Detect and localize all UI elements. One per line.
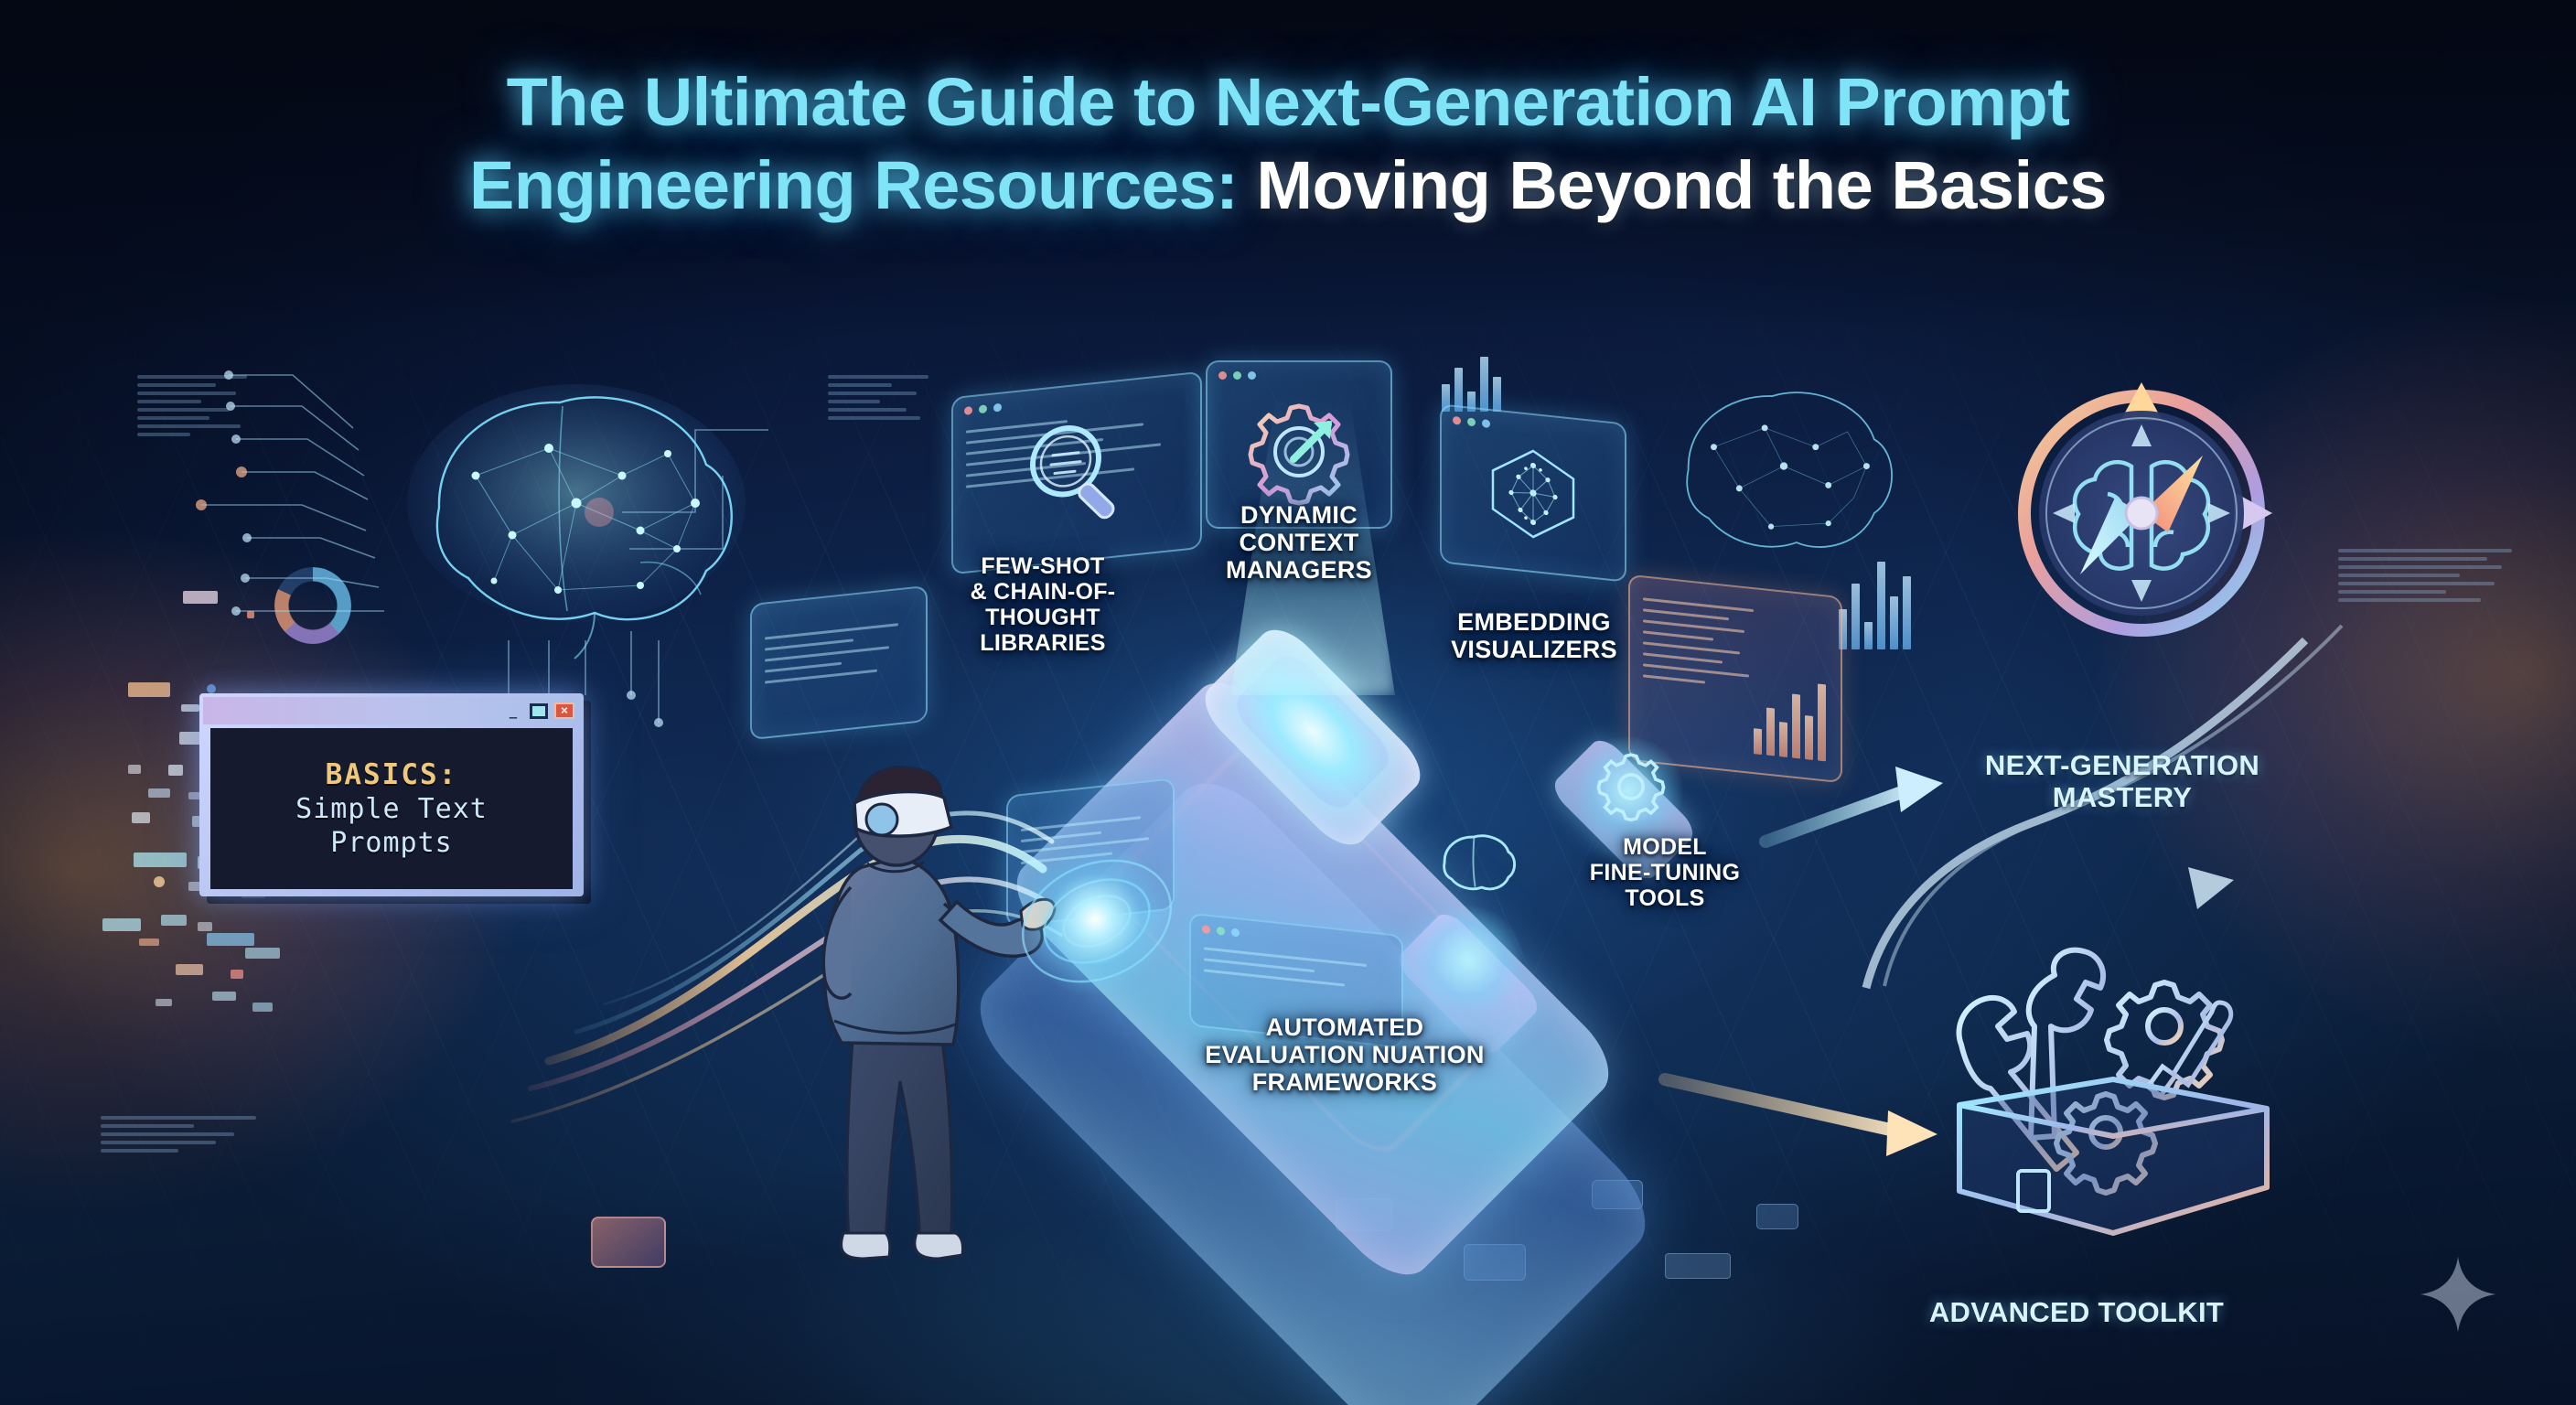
- bar-chart-decor-left: [1442, 348, 1501, 412]
- label-embedding-visualizers: EMBEDDING VISUALIZERS: [1420, 608, 1648, 663]
- floating-data-bits: [18, 585, 531, 1281]
- toolbox-icon: [1939, 942, 2287, 1244]
- label-next-generation-mastery: NEXT-GENERATION MASTERY: [1903, 750, 2342, 813]
- code-block-right: [2338, 549, 2512, 602]
- compass-brain-icon: [2000, 371, 2283, 655]
- donut-chart-decor: [274, 567, 351, 644]
- brain-network-icon-left: [366, 366, 787, 668]
- title-line-2-white: Moving Beyond the Basics: [1256, 147, 2107, 223]
- neural-node-icon: [1442, 405, 1625, 580]
- brain-network-icon-right: [1637, 366, 1930, 585]
- touch-interface-glow: [1017, 842, 1173, 997]
- chip-decor: [591, 1217, 666, 1268]
- card-content-lines: [765, 621, 913, 725]
- label-advanced-toolkit: ADVANCED TOOLKIT: [1866, 1297, 2287, 1329]
- poster-canvas: The Ultimate Guide to Next-Generation AI…: [0, 0, 2576, 1405]
- poster-title: The Ultimate Guide to Next-Generation AI…: [0, 68, 2576, 220]
- window-dots: [1202, 925, 1240, 937]
- sparkle-icon: [2419, 1255, 2497, 1334]
- title-line-1: The Ultimate Guide to Next-Generation AI…: [0, 68, 2576, 136]
- terminal-heading: BASICS:: [326, 758, 458, 791]
- card-bar-chart: [1754, 675, 1826, 761]
- terminal-line-3: Prompts: [330, 827, 452, 859]
- code-block-topleft-2: [828, 375, 928, 420]
- label-few-shot-libraries: FEW-SHOT & CHAIN-OF- THOUGHT LIBRARIES: [951, 553, 1134, 656]
- label-dynamic-context: DYNAMIC CONTEXT MANAGERS: [1198, 501, 1400, 585]
- terminal-screen: BASICS: Simple Text Prompts: [210, 728, 573, 889]
- card-content-lines: [1643, 597, 1754, 761]
- card-left-panel[interactable]: [750, 585, 928, 740]
- title-line-2: Engineering Resources: Moving Beyond the…: [0, 151, 2576, 220]
- mini-brain-hologram-icon: [1427, 823, 1528, 906]
- card-embedding-visualizer[interactable]: [1440, 403, 1626, 582]
- title-line-2-cyan: Engineering Resources:: [469, 147, 1238, 223]
- magnifying-glass-icon: [953, 373, 1200, 573]
- code-block-topleft: [137, 375, 247, 436]
- gear-hologram-icon: [1590, 745, 1672, 832]
- hologram-orb-model-tools: [1413, 906, 1523, 1015]
- terminal-titlebar[interactable]: _ ×: [203, 697, 580, 724]
- minimize-button[interactable]: _: [503, 702, 523, 721]
- terminal-line-2: Simple Text: [295, 793, 488, 825]
- basics-terminal-window[interactable]: _ × BASICS: Simple Text Prompts: [199, 693, 584, 896]
- label-automated-evaluation: AUTOMATED EVALUATION NUATION FRAMEWORKS: [1125, 1014, 1564, 1097]
- maximize-button[interactable]: [530, 703, 548, 719]
- card-few-shot-libraries[interactable]: [951, 371, 1202, 575]
- label-model-finetuning-tools: MODEL FINE-TUNING TOOLS: [1573, 834, 1756, 911]
- close-button[interactable]: ×: [554, 702, 574, 719]
